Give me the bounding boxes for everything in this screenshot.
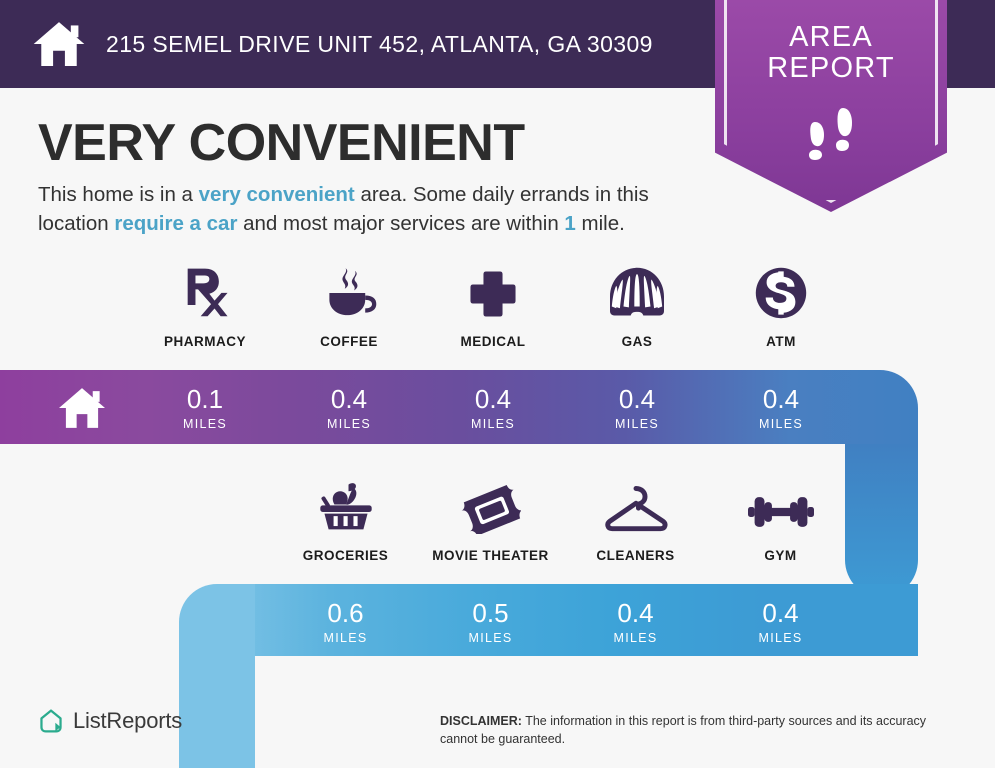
dollar-icon — [754, 258, 808, 320]
cross-icon — [467, 258, 519, 320]
copy-part-4: mile. — [576, 212, 625, 235]
distance-unit: MILES — [323, 631, 367, 645]
listreports-logo: ListReports — [38, 708, 182, 734]
home-marker-cell — [30, 372, 133, 444]
distance-cell: 0.4 MILES — [565, 372, 709, 444]
distance-value: 0.4 — [475, 386, 511, 412]
area-report-badge: AREA REPORT — [715, 0, 947, 212]
summary-text: This home is in a very convenient area. … — [38, 180, 718, 238]
distance-value: 0.1 — [187, 386, 223, 412]
coffee-icon — [320, 258, 378, 320]
copy-highlight-3: 1 — [564, 212, 575, 235]
distance-value: 0.4 — [619, 386, 655, 412]
amenity-movie-theater: MOVIE THEATER — [418, 472, 563, 563]
distance-cell: 0.1 MILES — [133, 372, 277, 444]
amenity-label: MOVIE THEATER — [432, 548, 549, 563]
badge-line-2: REPORT — [715, 53, 947, 84]
copy-part-3: and most major services are within — [237, 212, 564, 235]
distance-value: 0.4 — [331, 386, 367, 412]
distance-cell: 0.4 MILES — [708, 586, 853, 658]
disclaimer-label: DISCLAIMER: — [440, 714, 522, 728]
rx-icon — [179, 258, 231, 320]
amenity-label: CLEANERS — [596, 548, 674, 563]
amenity-medical: MEDICAL — [421, 258, 565, 349]
badge-line-1: AREA — [715, 22, 947, 53]
amenity-atm: ATM — [709, 258, 853, 349]
distance-value: 0.4 — [617, 600, 653, 626]
copy-part-1: This home is in a — [38, 183, 199, 206]
listreports-house-tag-icon — [38, 708, 64, 734]
distance-cell: 0.4 MILES — [563, 586, 708, 658]
distance-cell: 0.6 MILES — [273, 586, 418, 658]
badge-text: AREA REPORT — [715, 22, 947, 85]
amenity-pharmacy: PHARMACY — [133, 258, 277, 349]
distance-cell: 0.4 MILES — [709, 372, 853, 444]
distance-cell: 0.4 MILES — [421, 372, 565, 444]
amenity-label: MEDICAL — [461, 334, 526, 349]
distance-row-2: 0.6 MILES 0.5 MILES 0.4 MILES 0.4 MILES — [273, 586, 853, 658]
amenity-row-1: PHARMACY COFFEE MEDICAL — [133, 258, 853, 349]
page-title: VERY CONVENIENT — [38, 113, 525, 173]
amenity-label: COFFEE — [320, 334, 378, 349]
distance-unit: MILES — [468, 631, 512, 645]
basket-icon — [317, 472, 375, 534]
amenity-gym: GYM — [708, 472, 853, 563]
amenity-coffee: COFFEE — [277, 258, 421, 349]
amenity-row-2: GROCERIES MOVIE THEATER CLEANERS — [273, 472, 853, 563]
distance-unit: MILES — [759, 417, 803, 431]
distance-cell: 0.5 MILES — [418, 586, 563, 658]
copy-highlight-2: require a car — [114, 212, 237, 235]
distance-value: 0.5 — [472, 600, 508, 626]
amenity-label: GYM — [764, 548, 796, 563]
distance-unit: MILES — [471, 417, 515, 431]
distance-value: 0.6 — [327, 600, 363, 626]
listreports-wordmark: ListReports — [73, 708, 182, 734]
hanger-icon — [604, 472, 668, 534]
ticket-icon — [461, 472, 521, 534]
copy-highlight-1: very convenient — [199, 183, 355, 206]
amenity-gas: GAS — [565, 258, 709, 349]
distance-unit: MILES — [327, 417, 371, 431]
amenity-groceries: GROCERIES — [273, 472, 418, 563]
distance-unit: MILES — [615, 417, 659, 431]
footprints-icon — [801, 100, 861, 162]
distance-row-1: 0.1 MILES 0.4 MILES 0.4 MILES 0.4 MILES … — [133, 372, 853, 444]
property-address: 215 SEMEL DRIVE UNIT 452, ATLANTA, GA 30… — [106, 31, 653, 58]
shell-icon — [608, 258, 666, 320]
amenity-label: GAS — [622, 334, 653, 349]
disclaimer: DISCLAIMER: The information in this repo… — [440, 712, 960, 748]
distance-value: 0.4 — [763, 386, 799, 412]
distance-cell: 0.4 MILES — [277, 372, 421, 444]
distance-unit: MILES — [758, 631, 802, 645]
amenity-cleaners: CLEANERS — [563, 472, 708, 563]
distance-unit: MILES — [183, 417, 227, 431]
amenity-label: PHARMACY — [164, 334, 246, 349]
distance-value: 0.4 — [762, 600, 798, 626]
distance-unit: MILES — [613, 631, 657, 645]
dumbbell-icon — [748, 472, 814, 534]
amenity-label: GROCERIES — [303, 548, 389, 563]
home-icon — [32, 18, 86, 70]
amenity-label: ATM — [766, 334, 796, 349]
home-icon — [57, 385, 107, 431]
